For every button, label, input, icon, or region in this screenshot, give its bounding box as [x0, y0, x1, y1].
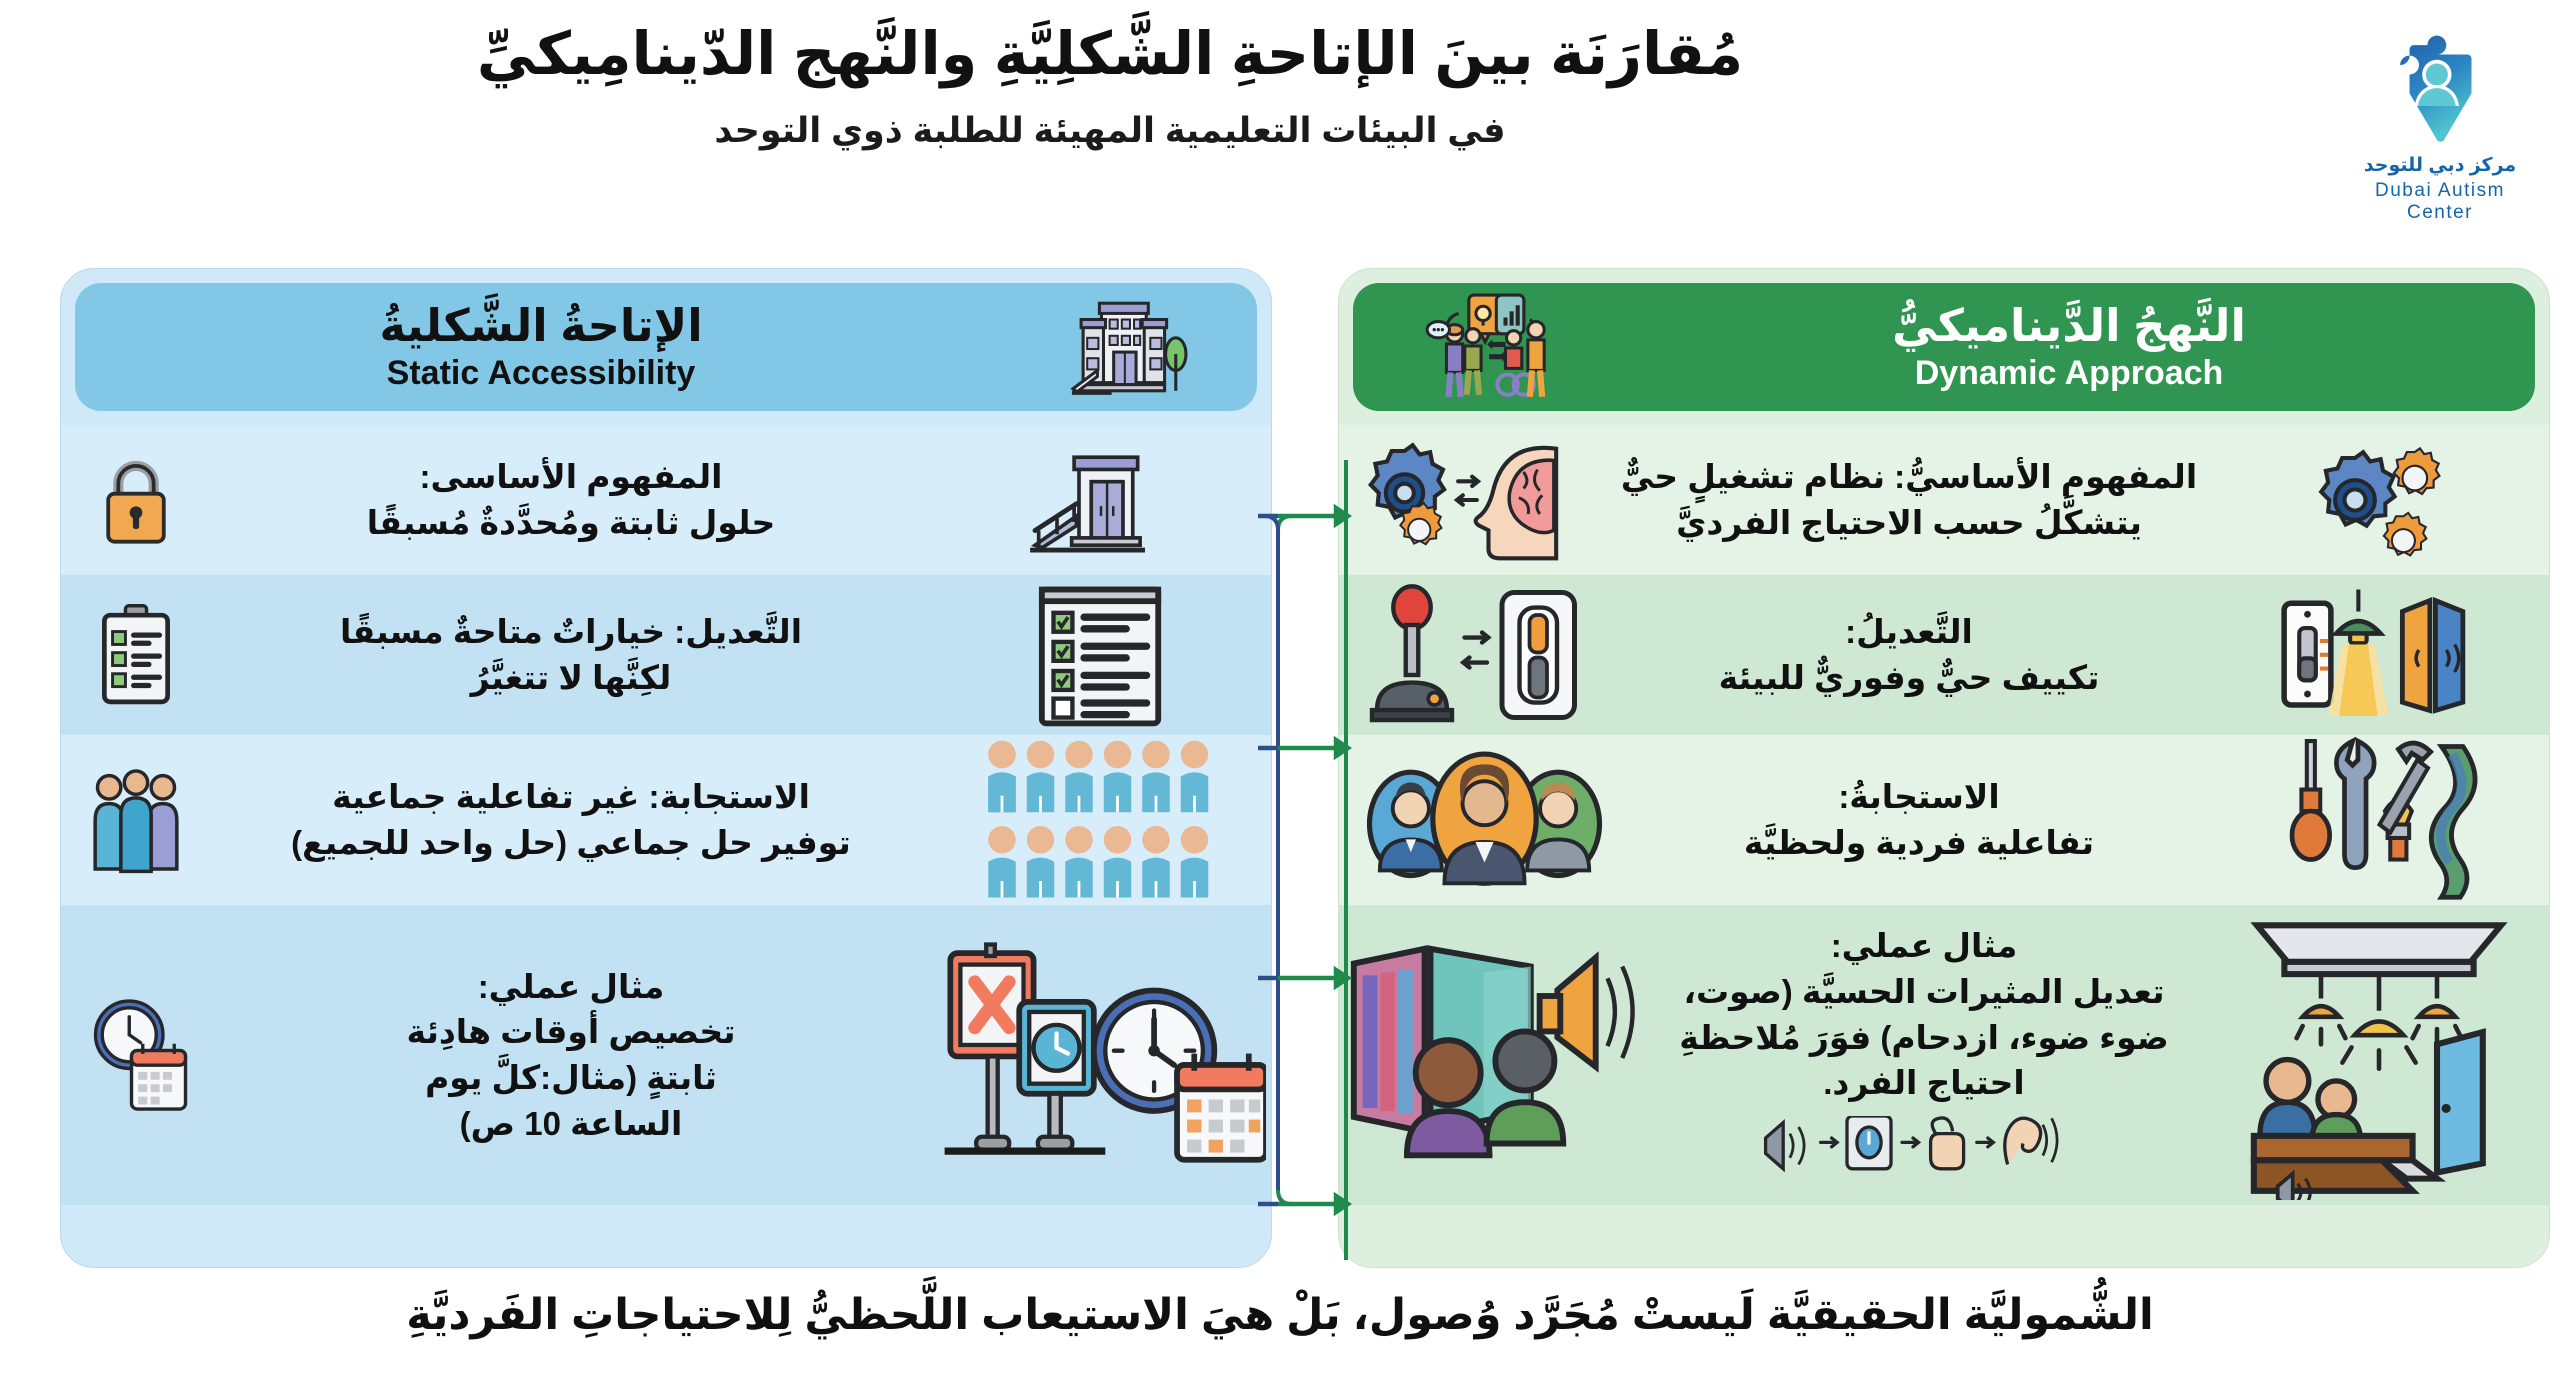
no-entry-sign-clock-calendar-icon [931, 933, 1271, 1177]
row-line: تكييف حيٌّ وفوريٌّ للبيئة [1615, 655, 2203, 701]
padlock-icon [61, 452, 211, 548]
row-line: احتياج الفرد. [1645, 1060, 2203, 1106]
row-line: الاستجابة: غير تفاعلية جماعية [217, 774, 925, 820]
organization-logo: مركز دبي للتوحد Dubai Autism Center [2340, 22, 2540, 224]
row-line: حلول ثابتة ومُحدَّدةٌ مُسبقًا [217, 500, 925, 546]
static-rows: المفهوم الأساسى: حلول ثابتة ومُحدَّدةٌ م… [61, 425, 1271, 1205]
footer-statement: الشُّموليَّة الحقيقيَّة لَيستْ مُجَرَّد … [0, 1288, 2560, 1344]
accessible-entrance-ramp-icon [931, 445, 1271, 555]
diverse-avatars-icon [1339, 736, 1629, 904]
clock-calendar-icon [61, 994, 211, 1116]
logo-name-ar: مركز دبي للتوحد [2340, 154, 2540, 177]
table-row: مثال عملي: تعديل المثيرات الحسيَّة (صوت،… [1339, 905, 2549, 1205]
sensory-screen-speaker-icon [1339, 937, 1639, 1173]
row-line: مثال عملي: [1645, 923, 2203, 969]
row-line: المفهوم الأساسى: [217, 454, 925, 500]
page-footer: الشُّموليَّة الحقيقيَّة لَيستْ مُجَرَّد … [0, 1288, 2560, 1344]
row-line: تخصيص أوقات هادِئة [217, 1009, 925, 1055]
row-line: الاستجابةُ: [1635, 774, 2203, 820]
table-row: المفهوم الأساسيُّ: نظام تشغيلٍ حيٌّ يتشك… [1339, 425, 2549, 575]
connector-arrows [1258, 430, 1358, 1290]
inclusive-people-collaboration-icon [1353, 287, 1603, 407]
page-subtitle: في البيئات التعليمية المهيئة للطلبة ذوي … [330, 108, 1890, 154]
clipboard-checklist-icon [61, 601, 211, 709]
dynamic-rows: المفهوم الأساسيُّ: نظام تشغيلٍ حيٌّ يتشك… [1339, 425, 2549, 1205]
table-row: التَّعديل: خياراتٌ متاحةٌ مسبقًا لكِنَّه… [61, 575, 1271, 735]
row-line: ثابتةٍ (مثال:كلَّ يوم [217, 1055, 925, 1101]
table-row: الاستجابة: غير تفاعلية جماعية توفير حل ج… [61, 735, 1271, 905]
row-line: التَّعديلُ: [1615, 609, 2203, 655]
dynamic-row-4-text: مثال عملي: تعديل المثيرات الحسيَّة (صوت،… [1639, 923, 2209, 1186]
dynamic-connector-lines [1278, 460, 1346, 1260]
gear-brain-head-icon [1339, 430, 1609, 570]
dynamic-row-3-text: الاستجابةُ: تفاعلية فردية ولحظيَّة [1629, 774, 2209, 865]
static-panel-title-block: الإتاحةُ الشَّكليةُ Static Accessibility [75, 300, 1007, 395]
title-block: مُقارَنَة بينَ الإتاحةِ الشَّكلِيَّةِ وا… [330, 18, 1890, 153]
static-row-1-text: المفهوم الأساسى: حلول ثابتة ومُحدَّدةٌ م… [211, 454, 931, 545]
row-line: ضوء ضوء، ازدحام) فوَرَ مُلاحظةِ [1645, 1015, 2203, 1061]
row-line: لكِنَّها لا تتغيَّرُ [217, 655, 925, 701]
table-row: المفهوم الأساسى: حلول ثابتة ومُحدَّدةٌ م… [61, 425, 1271, 575]
row-line: الساعة 10 ص) [217, 1101, 925, 1147]
table-row: الاستجابةُ: تفاعلية فردية ولحظيَّة [1339, 735, 2549, 905]
tools-adaptation-icon [2209, 733, 2549, 908]
dimmer-switch-lamp-door-icon [2209, 573, 2549, 738]
dynamic-panel-header: النَّهجُ الدَّيناميكيُّ Dynamic Approach [1353, 283, 2535, 411]
row-line: يتشكَّلُ حسب الاحتياج الفرديَّ [1615, 500, 2203, 546]
static-panel-title-en: Static Accessibility [85, 353, 997, 394]
dynamic-panel-title-ar: النَّهجُ الدَّيناميكيُّ [1613, 300, 2525, 352]
dynamic-panel-title-en: Dynamic Approach [1613, 353, 2525, 394]
dynamic-approach-panel: النَّهجُ الدَّيناميكيُّ Dynamic Approach [1338, 268, 2550, 1268]
logo-name-en: Dubai Autism Center [2340, 180, 2540, 224]
row-line: مثال عملي: [217, 964, 925, 1010]
row-line: توفير حل جماعي (حل واحد للجميع) [217, 820, 925, 866]
dynamic-panel-title-block: النَّهجُ الدَّيناميكيُّ Dynamic Approach [1603, 300, 2535, 395]
static-accessibility-panel: الإتاحةُ الشَّكليةُ Static Accessibility [60, 268, 1272, 1268]
dynamic-row-1-text: المفهوم الأساسيُّ: نظام تشغيلٍ حيٌّ يتشك… [1609, 454, 2209, 545]
static-panel-header: الإتاحةُ الشَّكليةُ Static Accessibility [75, 283, 1257, 411]
puzzle-person-logo-icon [2377, 22, 2503, 148]
table-row: مثال عملي: تخصيص أوقات هادِئة ثابتةٍ (مث… [61, 905, 1271, 1205]
page-header: مُقارَنَة بينَ الإتاحةِ الشَّكلِيَّةِ وا… [0, 0, 2560, 258]
sensory-flow-sequence-icon [1645, 1116, 2203, 1187]
gears-cogs-icon [2209, 430, 2549, 570]
static-row-2-text: التَّعديل: خياراتٌ متاحةٌ مسبقًا لكِنَّه… [211, 609, 931, 700]
static-row-4-text: مثال عملي: تخصيص أوقات هادِئة ثابتةٍ (مث… [211, 964, 931, 1146]
checklist-document-icon [931, 575, 1271, 735]
dynamic-row-2-text: التَّعديلُ: تكييف حيٌّ وفوريٌّ للبيئة [1609, 609, 2209, 700]
joystick-toggle-switch-icon [1339, 580, 1609, 730]
static-row-3-text: الاستجابة: غير تفاعلية جماعية توفير حل ج… [211, 774, 931, 865]
classroom-lighting-adjust-icon [2209, 910, 2549, 1200]
static-connector-lines [1258, 516, 1278, 1190]
three-people-group-icon [61, 764, 211, 876]
static-panel-title-ar: الإتاحةُ الشَّكليةُ [85, 300, 997, 352]
row-line: تفاعلية فردية ولحظيَّة [1635, 820, 2203, 866]
row-line: تعديل المثيرات الحسيَّة (صوت، [1645, 969, 2203, 1015]
crowd-grid-icon [931, 738, 1271, 903]
row-line: التَّعديل: خياراتٌ متاحةٌ مسبقًا [217, 609, 925, 655]
school-building-icon [1007, 287, 1257, 407]
table-row: التَّعديلُ: تكييف حيٌّ وفوريٌّ للبيئة [1339, 575, 2549, 735]
page-title: مُقارَنَة بينَ الإتاحةِ الشَّكلِيَّةِ وا… [330, 18, 1890, 92]
row-line: المفهوم الأساسيُّ: نظام تشغيلٍ حيٌّ [1615, 454, 2203, 500]
